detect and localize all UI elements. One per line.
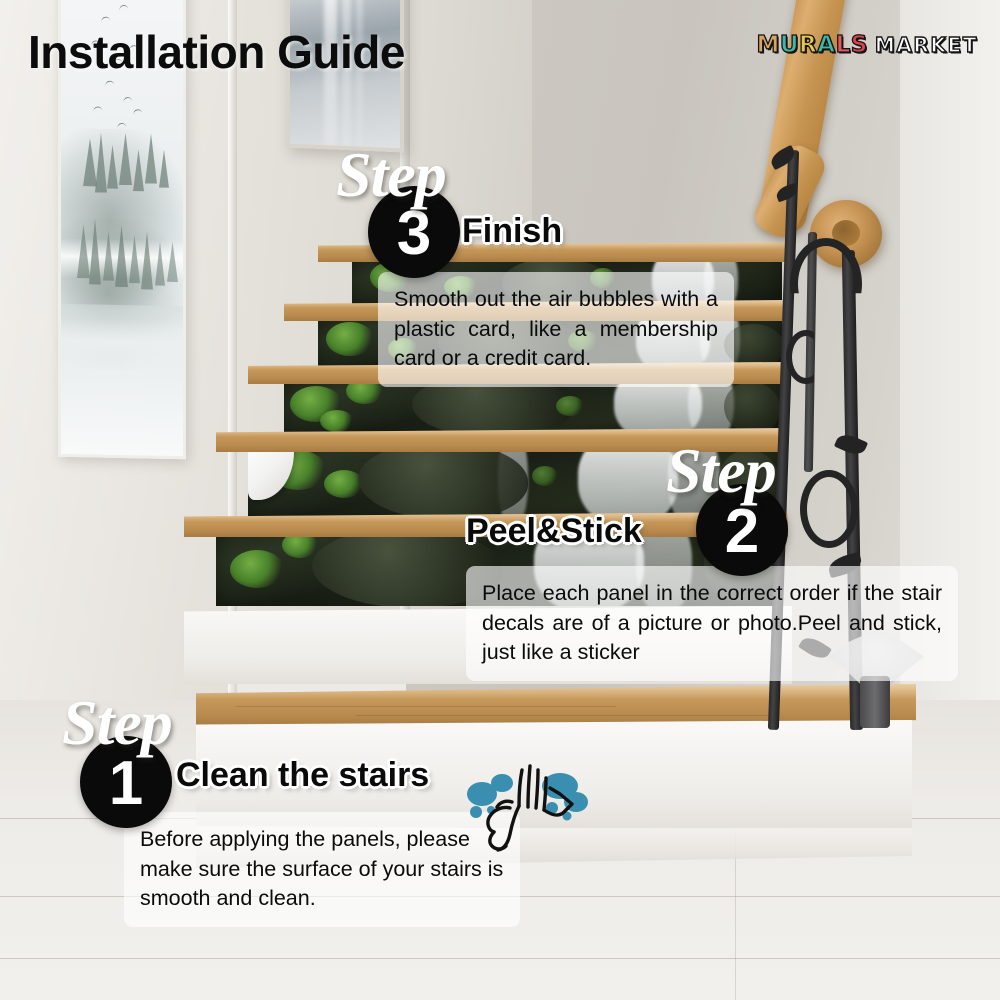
logo-letter-u: U	[780, 32, 799, 58]
step-1-word: Step	[62, 686, 172, 760]
step-2-badge: Step 2	[666, 434, 836, 574]
page-title: Installation Guide	[28, 25, 405, 79]
brand-logo: M U R A L S MARKET	[756, 32, 978, 58]
installation-guide-infographic: Installation Guide M U R A L S MARKET St…	[0, 0, 1000, 1000]
logo-market-text: MARKET	[875, 33, 978, 57]
washing-hands-icon	[460, 750, 590, 860]
step-2-word: Step	[666, 434, 776, 508]
logo-letter-r: R	[799, 32, 817, 58]
step-2-body-text: Place each panel in the correct order if…	[466, 566, 958, 681]
step-3-badge: Step 3	[336, 138, 506, 278]
step-3-body-text: Smooth out the air bubbles with a plasti…	[378, 272, 734, 387]
bottom-stair-tread	[196, 684, 916, 726]
newel-post-base	[860, 676, 890, 728]
logo-letter-a: A	[817, 32, 835, 58]
step-3-word: Step	[336, 138, 446, 212]
step-3-heading: Finish	[462, 212, 562, 251]
step-2-number: 2	[725, 501, 759, 563]
logo-murals-text: M U R A L S	[756, 32, 867, 58]
logo-letter-m: M	[756, 32, 779, 58]
step-3-number: 3	[397, 203, 431, 265]
logo-letter-s: S	[851, 32, 868, 58]
step-2-heading: Peel&Stick	[466, 512, 642, 551]
logo-letter-l: L	[836, 32, 851, 58]
step-1-number: 1	[109, 753, 143, 815]
step-1-heading: Clean the stairs	[176, 756, 429, 795]
